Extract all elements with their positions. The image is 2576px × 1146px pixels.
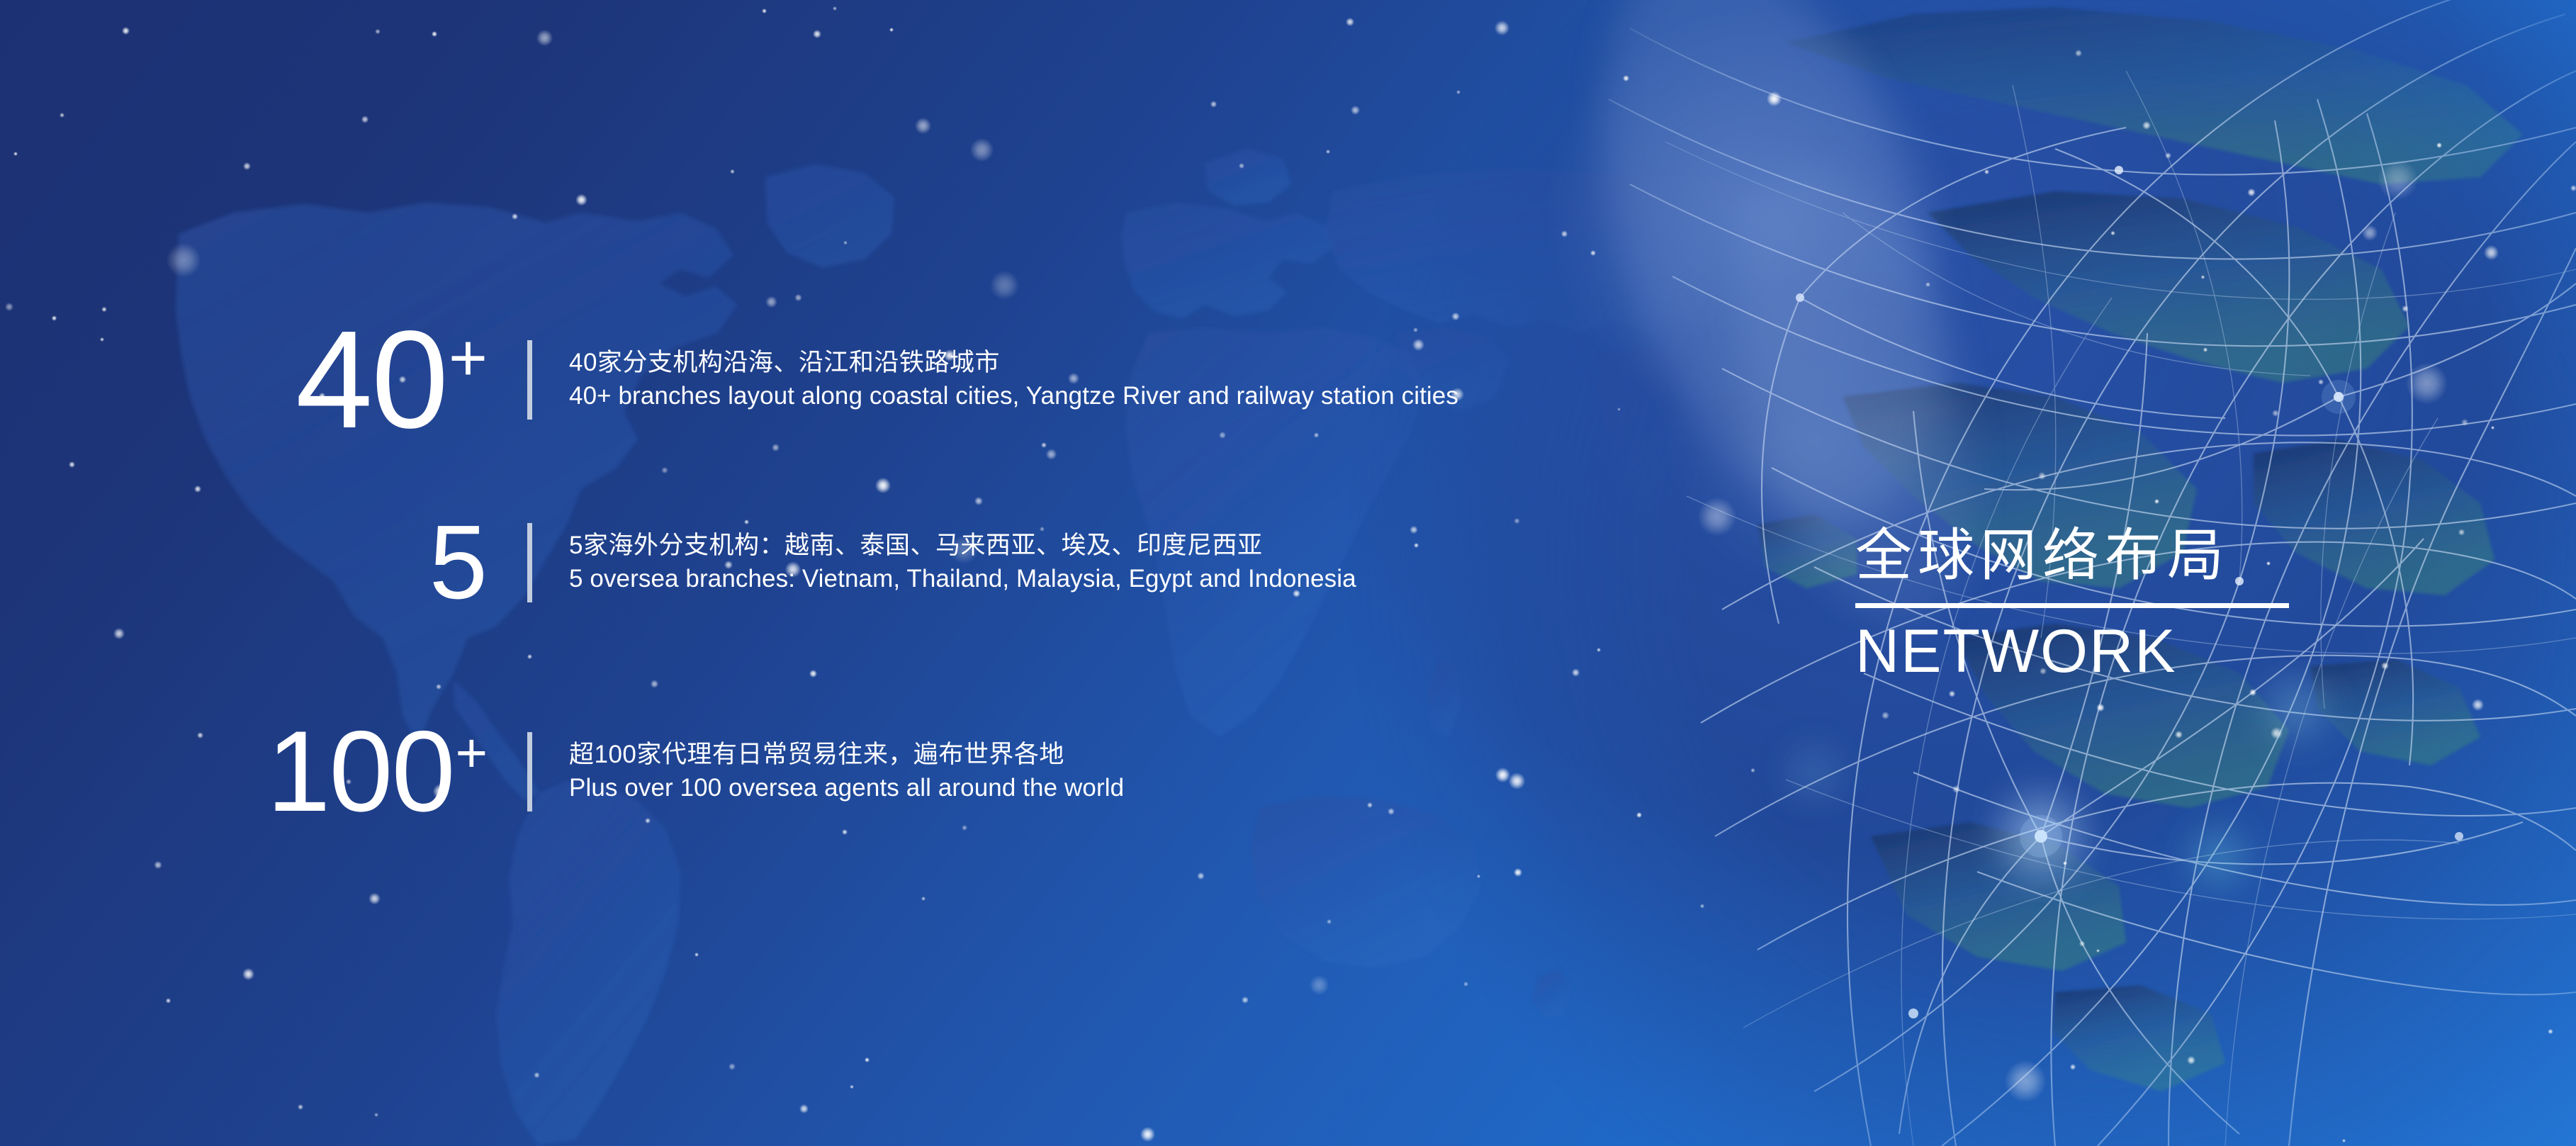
stat-number-100-value: 100 xyxy=(266,707,454,836)
stat-number-5: 5 xyxy=(119,510,488,615)
stat-divider-100 xyxy=(527,732,532,811)
stat-text-40-en: 40+ branches layout along coastal cities… xyxy=(569,380,1458,413)
stat-text-5-cn: 5家海外分支机构：越南、泰国、马来西亚、埃及、印度尼西亚 xyxy=(569,529,1356,563)
stat-divider-5 xyxy=(527,523,532,602)
stat-number-5-value: 5 xyxy=(429,504,486,621)
network-title-rule xyxy=(1855,603,2289,608)
stat-text-40-cn: 40家分支机构沿海、沿江和沿铁路城市 xyxy=(569,347,1458,380)
global-network-banner: 40+ 40家分支机构沿海、沿江和沿铁路城市 40+ branches layo… xyxy=(0,0,2576,1146)
stat-text-40: 40家分支机构沿海、沿江和沿铁路城市 40+ branches layout a… xyxy=(569,347,1458,413)
stat-number-100: 100+ xyxy=(119,714,488,829)
stat-text-100-cn: 超100家代理有日常贸易往来，遍布世界各地 xyxy=(569,738,1124,772)
network-title-cn: 全球网络布局 xyxy=(1855,526,2309,586)
stat-number-40: 40+ xyxy=(119,310,488,449)
network-title-block: 全球网络布局 NETWORK xyxy=(1855,526,2309,683)
stat-text-100: 超100家代理有日常贸易往来，遍布世界各地 Plus over 100 over… xyxy=(569,738,1124,805)
stat-row-40: 40+ 40家分支机构沿海、沿江和沿铁路城市 40+ branches layo… xyxy=(119,310,1458,449)
stat-text-5: 5家海外分支机构：越南、泰国、马来西亚、埃及、印度尼西亚 5 oversea b… xyxy=(569,529,1356,596)
stat-row-5: 5 5家海外分支机构：越南、泰国、马来西亚、埃及、印度尼西亚 5 oversea… xyxy=(119,510,1356,615)
stat-text-100-en: Plus over 100 oversea agents all around … xyxy=(569,772,1124,805)
banner-content: 40+ 40家分支机构沿海、沿江和沿铁路城市 40+ branches layo… xyxy=(0,0,2576,1146)
stat-number-40-plus: + xyxy=(449,320,488,395)
stat-row-100: 100+ 超100家代理有日常贸易往来，遍布世界各地 Plus over 100… xyxy=(119,714,1124,829)
stat-number-40-value: 40 xyxy=(296,302,447,457)
stat-divider-40 xyxy=(527,340,532,420)
stat-text-5-en: 5 oversea branches: Vietnam, Thailand, M… xyxy=(569,563,1356,596)
stat-number-100-plus: + xyxy=(456,723,488,784)
network-title-en: NETWORK xyxy=(1855,619,2309,683)
